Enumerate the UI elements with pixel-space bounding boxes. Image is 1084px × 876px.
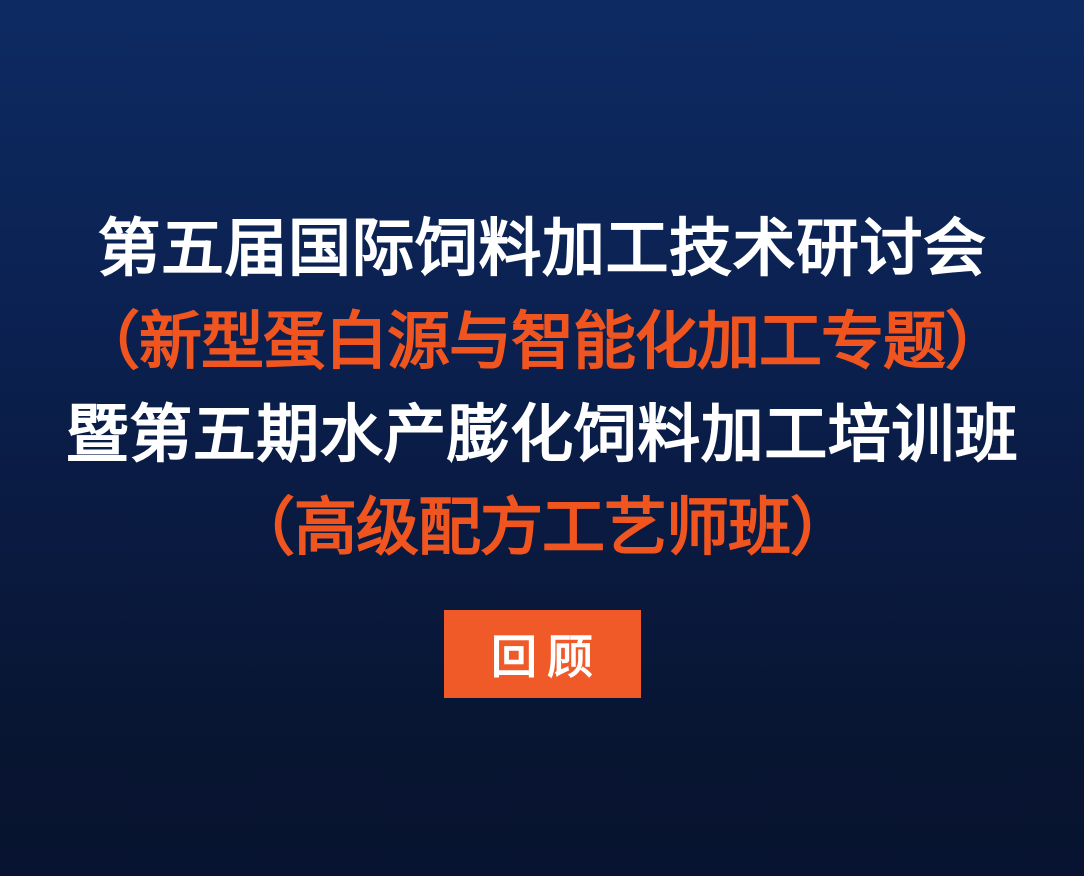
review-button[interactable]: 回顾 (444, 610, 641, 698)
headline-line-4-subtitle: （高级配方工艺师班） (0, 482, 1084, 575)
headline-line-1: 第五届国际饲料加工技术研讨会 (0, 203, 1084, 296)
headline-line-3: 暨第五期水产膨化饲料加工培训班 (0, 389, 1084, 482)
headline-line-2-subtitle: （新型蛋白源与智能化加工专题） (0, 296, 1084, 389)
conference-banner: 第五届国际饲料加工技术研讨会 （新型蛋白源与智能化加工专题） 暨第五期水产膨化饲… (0, 0, 1084, 876)
badge-wrap: 回顾 (0, 610, 1084, 698)
headline-block: 第五届国际饲料加工技术研讨会 （新型蛋白源与智能化加工专题） 暨第五期水产膨化饲… (0, 203, 1084, 575)
